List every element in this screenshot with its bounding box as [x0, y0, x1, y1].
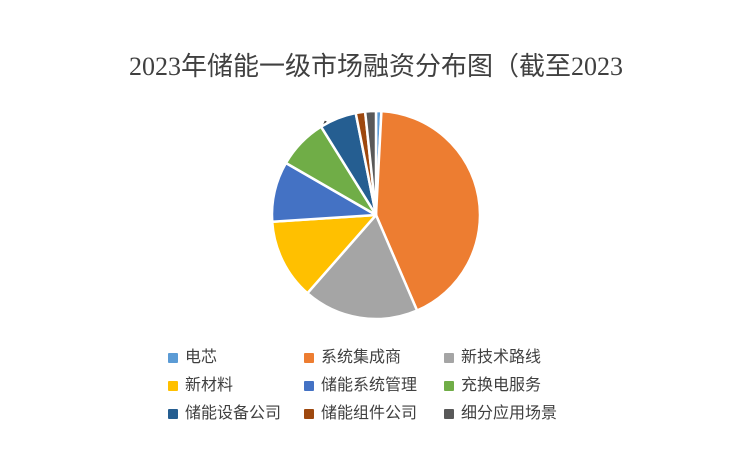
legend-item[interactable]: 电芯	[168, 344, 304, 372]
legend-item[interactable]: 系统集成商	[304, 344, 444, 372]
legend-item[interactable]: 细分应用场景	[444, 400, 584, 428]
legend-item-label: 电芯	[185, 349, 217, 367]
legend-swatch-icon	[168, 381, 178, 391]
legend-item-label: 系统集成商	[321, 349, 401, 367]
legend-item-label: 充换电服务	[461, 377, 541, 395]
chart-title-line-1: 2023年储能一级市场融资分布图（截至2023	[96, 50, 656, 84]
pie-svg	[256, 95, 496, 335]
legend-item[interactable]: 充换电服务	[444, 372, 584, 400]
legend-swatch-icon	[304, 353, 314, 363]
pie-slices	[272, 111, 480, 319]
legend-swatch-icon	[168, 409, 178, 419]
plot-area	[0, 95, 752, 335]
legend-item-label: 储能组件公司	[321, 405, 417, 423]
legend-item-label: 新技术路线	[461, 349, 541, 367]
legend-item[interactable]: 储能组件公司	[304, 400, 444, 428]
legend-swatch-icon	[444, 381, 454, 391]
chart-legend: 电芯系统集成商新技术路线新材料储能系统管理充换电服务储能设备公司储能组件公司细分…	[0, 344, 752, 428]
legend-item[interactable]: 新技术路线	[444, 344, 584, 372]
legend-item-label: 新材料	[185, 377, 233, 395]
legend-swatch-icon	[444, 353, 454, 363]
legend-swatch-icon	[304, 409, 314, 419]
legend-item[interactable]: 储能系统管理	[304, 372, 444, 400]
pie-chart-card: 2023年储能一级市场融资分布图（截至2023 年9月底） 电芯系统集成商新技术…	[0, 0, 752, 451]
legend-item-label: 细分应用场景	[461, 405, 557, 423]
legend-item-label: 储能设备公司	[185, 405, 281, 423]
legend-item[interactable]: 新材料	[168, 372, 304, 400]
legend-item[interactable]: 储能设备公司	[168, 400, 304, 428]
legend-swatch-icon	[444, 409, 454, 419]
legend-swatch-icon	[304, 381, 314, 391]
legend-item-label: 储能系统管理	[321, 377, 417, 395]
legend-grid: 电芯系统集成商新技术路线新材料储能系统管理充换电服务储能设备公司储能组件公司细分…	[168, 344, 584, 428]
legend-swatch-icon	[168, 353, 178, 363]
